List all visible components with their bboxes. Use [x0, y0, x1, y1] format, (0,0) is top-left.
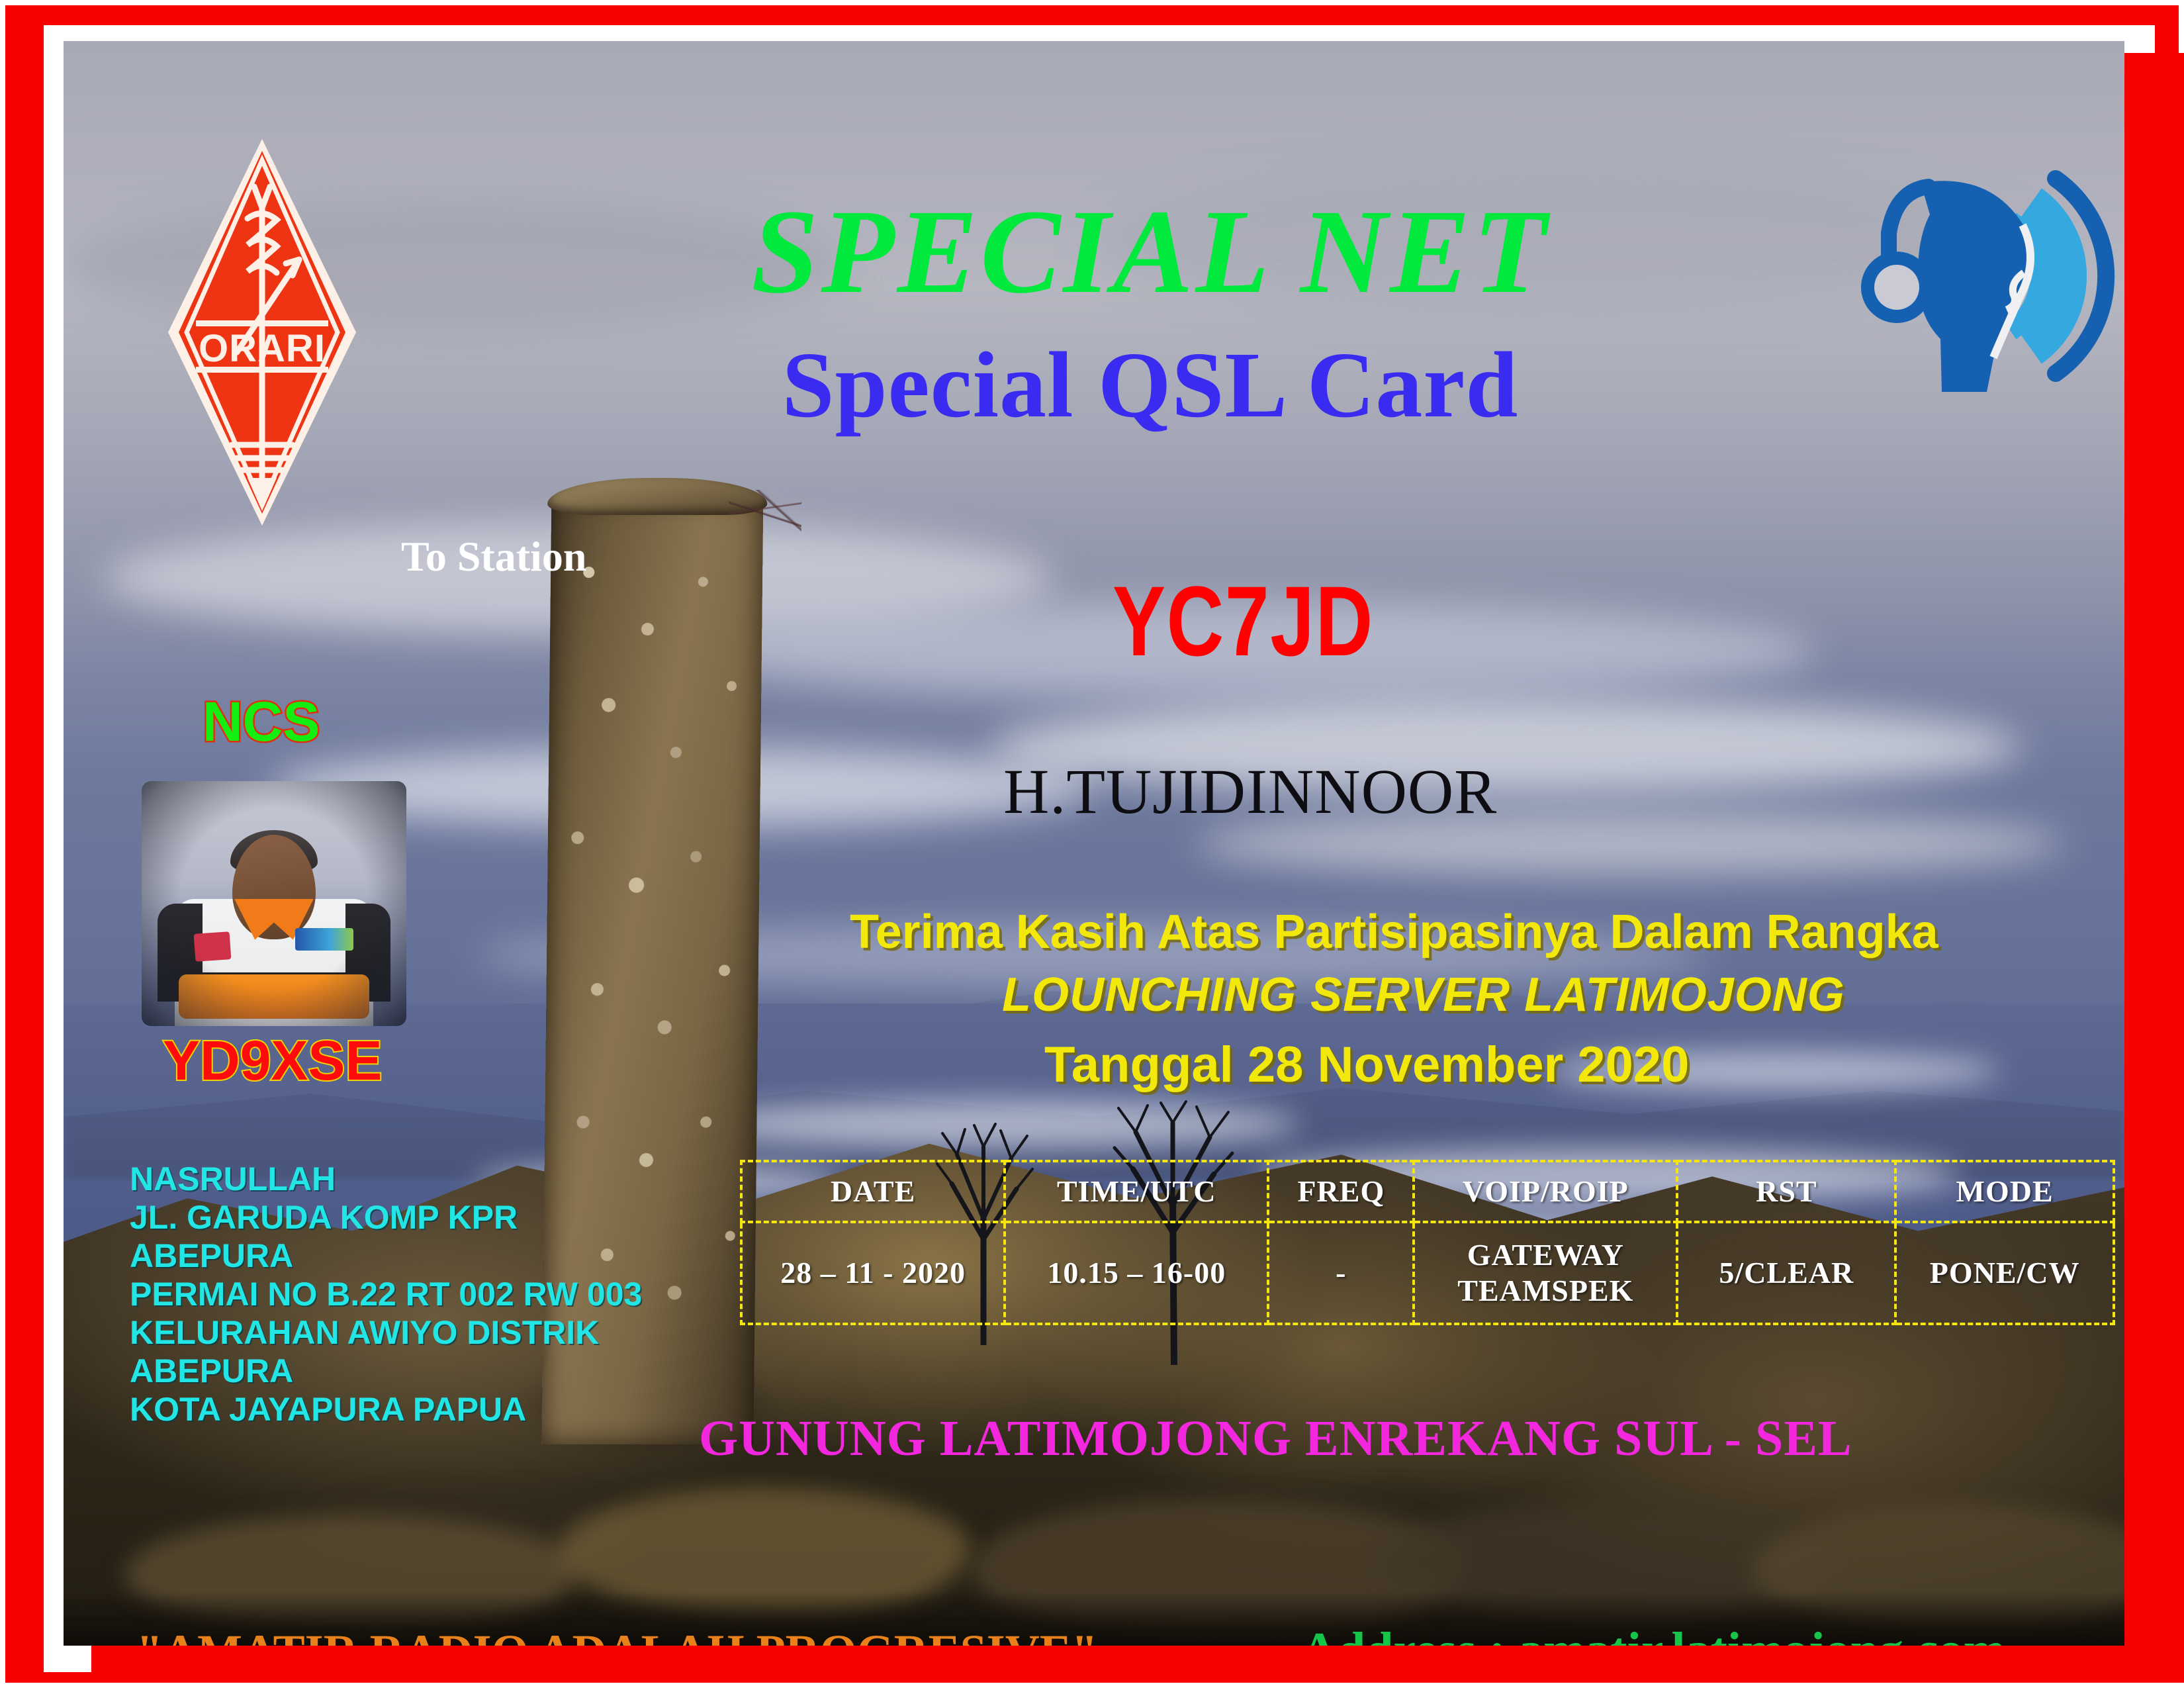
address-line: ABEPURA	[130, 1352, 642, 1390]
column-header-time: TIME/UTC	[1005, 1161, 1268, 1222]
address-line: JL. GARUDA KOMP KPR	[130, 1198, 642, 1237]
cell-date: 28 – 11 - 2020	[741, 1222, 1005, 1324]
page-title: SPECIAL NET	[64, 192, 2124, 312]
cell-freq: -	[1268, 1222, 1414, 1324]
footer-web-address: Address : amatir.latimojong.com	[1301, 1622, 2005, 1646]
page-subtitle: Special QSL Card	[64, 338, 2124, 432]
cell-time: 10.15 – 16-00	[1005, 1222, 1268, 1324]
to-station-label: To Station	[401, 532, 586, 581]
thanks-line-1: Terima Kasih Atas Partisipasinya Dalam R…	[850, 905, 1938, 959]
cell-mode: PONE/CW	[1895, 1222, 2114, 1324]
cloud-wisp	[682, 1100, 1300, 1149]
cell-voip-roip: GATEWAY TEAMSPEK	[1414, 1222, 1677, 1324]
thanks-line-2: LOUNCHING SERVER LATIMOJONG	[1002, 968, 1845, 1022]
address-line: PERMAI NO B.22 RT 002 RW 003	[130, 1275, 642, 1313]
ncs-label: NCS	[203, 690, 320, 754]
column-header-mode: MODE	[1895, 1161, 2114, 1222]
operator-name: H.TUJIDINNOOR	[1003, 755, 1497, 828]
address-line: KELURAHAN AWIYO DISTRIK	[130, 1313, 642, 1352]
address-line: ABEPURA	[130, 1237, 642, 1275]
address-line: KOTA JAYAPURA PAPUA	[130, 1390, 642, 1429]
address-line: NASRULLAH	[130, 1160, 642, 1198]
qso-details-table: DATE TIME/UTC FREQ VOIP/ROIP RST MODE 28…	[740, 1160, 2115, 1325]
qsl-card: ORARI SPECIAL NET Special QSL	[0, 0, 2184, 1688]
column-header-voip-roip: VOIP/ROIP	[1414, 1161, 1677, 1222]
table-row: 28 – 11 - 2020 10.15 – 16-00 - GATEWAY T…	[741, 1222, 2114, 1324]
mailing-address-block: NASRULLAH JL. GARUDA KOMP KPR ABEPURA PE…	[130, 1160, 642, 1429]
background-photograph: ORARI SPECIAL NET Special QSL	[64, 41, 2124, 1646]
station-callsign: YC7JD	[1113, 564, 1374, 679]
cell-rst: 5/CLEAR	[1677, 1222, 1895, 1324]
column-header-rst: RST	[1677, 1161, 1895, 1222]
column-header-freq: FREQ	[1268, 1161, 1414, 1222]
thanks-line-3: Tanggal 28 November 2020	[1044, 1036, 1689, 1094]
photo-vignette	[142, 781, 406, 1026]
dry-grass-tuft	[729, 490, 802, 536]
table-header-row: DATE TIME/UTC FREQ VOIP/ROIP RST MODE	[741, 1161, 2114, 1222]
ncs-callsign: YD9XSE	[163, 1029, 383, 1093]
footer-motto: "AMATIR RADIO ADALAH PROGRESIVE"	[136, 1624, 1098, 1646]
column-header-date: DATE	[741, 1161, 1005, 1222]
location-line: GUNUNG LATIMOJONG ENREKANG SUL - SEL	[699, 1410, 1852, 1468]
ncs-operator-photo	[142, 781, 406, 1026]
